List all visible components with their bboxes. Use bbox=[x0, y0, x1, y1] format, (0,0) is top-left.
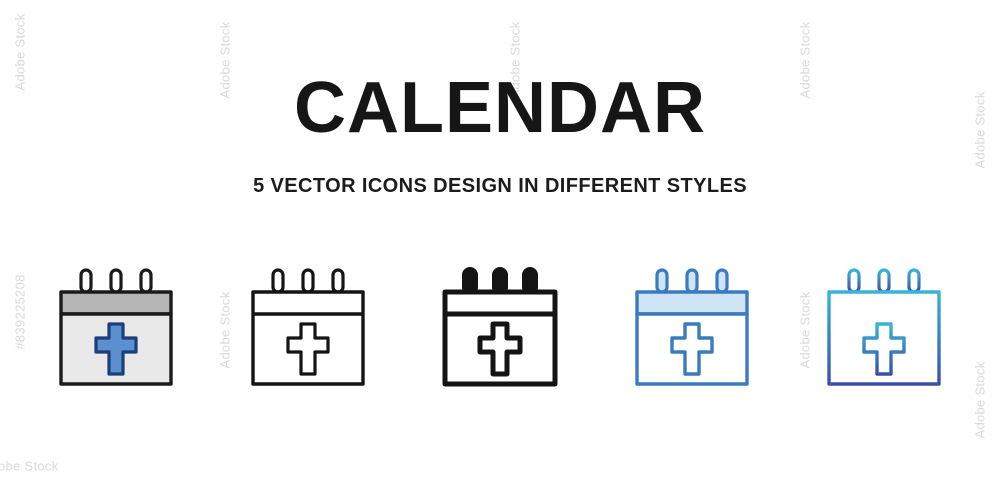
calendar-cross-blue-filled-icon bbox=[629, 262, 755, 394]
calendar-cross-line-icon bbox=[245, 262, 371, 394]
icon-calendar-cross-line[interactable] bbox=[243, 262, 373, 402]
calendar-cross-bold-line-icon bbox=[437, 262, 563, 394]
icon-calendar-cross-bold-line[interactable] bbox=[435, 262, 565, 402]
page-subtitle: 5 VECTOR ICONS DESIGN IN DIFFERENT STYLE… bbox=[0, 175, 1000, 198]
page-title: CALENDAR bbox=[0, 72, 1000, 144]
calendar-cross-gradient-icon bbox=[821, 262, 947, 394]
watermark-brand-left-bottom: Adobe Stock bbox=[0, 459, 59, 474]
icon-calendar-cross-filled-grey[interactable] bbox=[51, 262, 181, 402]
icon-set-row bbox=[0, 262, 1000, 412]
calendar-cross-filled-grey-icon bbox=[53, 262, 179, 394]
icon-calendar-cross-gradient[interactable] bbox=[819, 262, 949, 402]
icon-calendar-cross-blue-filled[interactable] bbox=[627, 262, 757, 402]
